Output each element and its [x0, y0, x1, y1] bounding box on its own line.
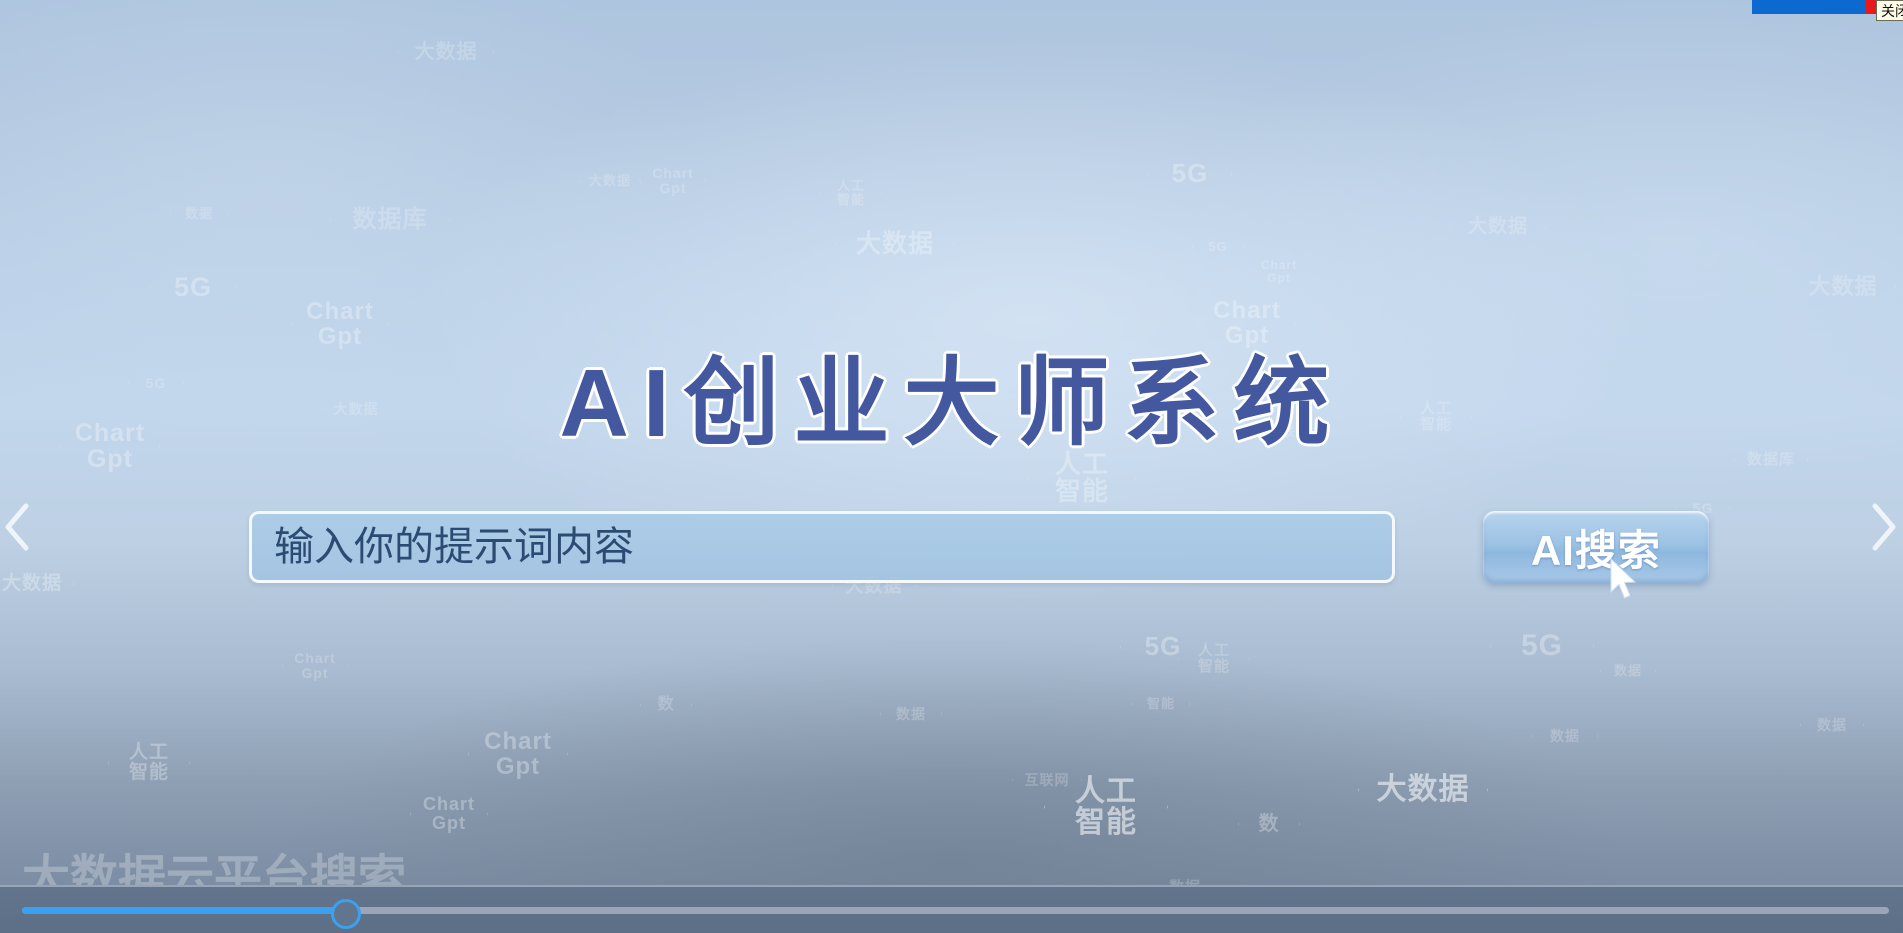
slider-handle[interactable] — [331, 899, 361, 929]
background-sheen — [0, 0, 1903, 933]
chevron-right-icon — [1859, 492, 1903, 562]
carousel-next-button[interactable] — [1859, 492, 1903, 562]
app-screen: 数据库大数据ChartGpt人工智能大数据5G大数据5GChartGpt数据5G… — [0, 0, 1903, 933]
bottom-slider-bar — [0, 885, 1903, 933]
search-input[interactable] — [249, 511, 1395, 583]
page-title: AI创业大师系统 — [0, 325, 1903, 464]
chevron-left-icon — [0, 492, 42, 562]
close-tooltip: 关闭 — [1876, 0, 1903, 21]
carousel-prev-button[interactable] — [0, 492, 42, 562]
ai-search-button[interactable]: AI搜索 — [1483, 511, 1709, 583]
slider-track[interactable] — [22, 907, 1889, 914]
search-bar: AI搜索 — [249, 507, 1709, 587]
slider-fill — [22, 907, 343, 914]
chrome-blue-bar — [1752, 0, 1866, 14]
